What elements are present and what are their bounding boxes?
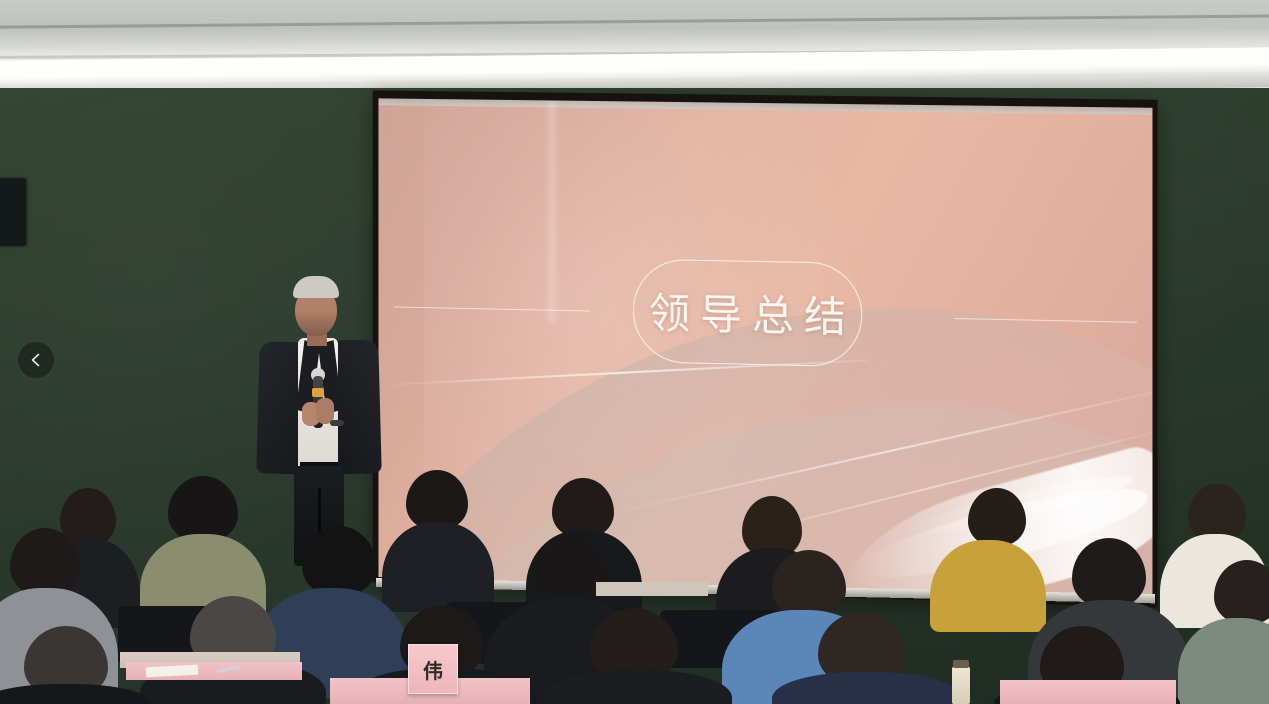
wall-speaker [0,178,26,246]
audience-head [772,550,846,618]
audience-head [302,526,376,596]
screen-vertical-streak [545,100,559,322]
audience-head [1072,538,1146,608]
presenter-watch [330,420,344,426]
nameplate: 伟 [408,644,458,694]
chevron-left-icon [28,352,44,368]
prev-image-button[interactable] [18,342,54,378]
presenter-hair [293,276,339,298]
audience-body [930,540,1046,632]
nameplate-text: 伟 [423,655,443,684]
ceiling-seam [0,14,1269,29]
audience-head [968,488,1026,546]
bottle-cap [953,660,969,668]
audience-head [552,478,614,538]
audience-body [1178,618,1269,704]
presenter-face-shadow [295,310,337,336]
ceiling [0,0,1269,92]
audience: 伟 [0,430,1269,704]
slide-title: 领导总结 [639,280,856,345]
microphone-band [312,388,324,397]
water-bottle [952,666,970,704]
audience-head [168,476,238,542]
audience-body [382,522,494,612]
audience-body [0,684,152,704]
desk-pink-surface [1000,680,1176,704]
audience-head [406,470,468,530]
presentation-photo-scene: 领导总结 [0,0,1269,704]
desk-surface [596,582,708,596]
slide-title-pill: 领导总结 [632,259,862,368]
